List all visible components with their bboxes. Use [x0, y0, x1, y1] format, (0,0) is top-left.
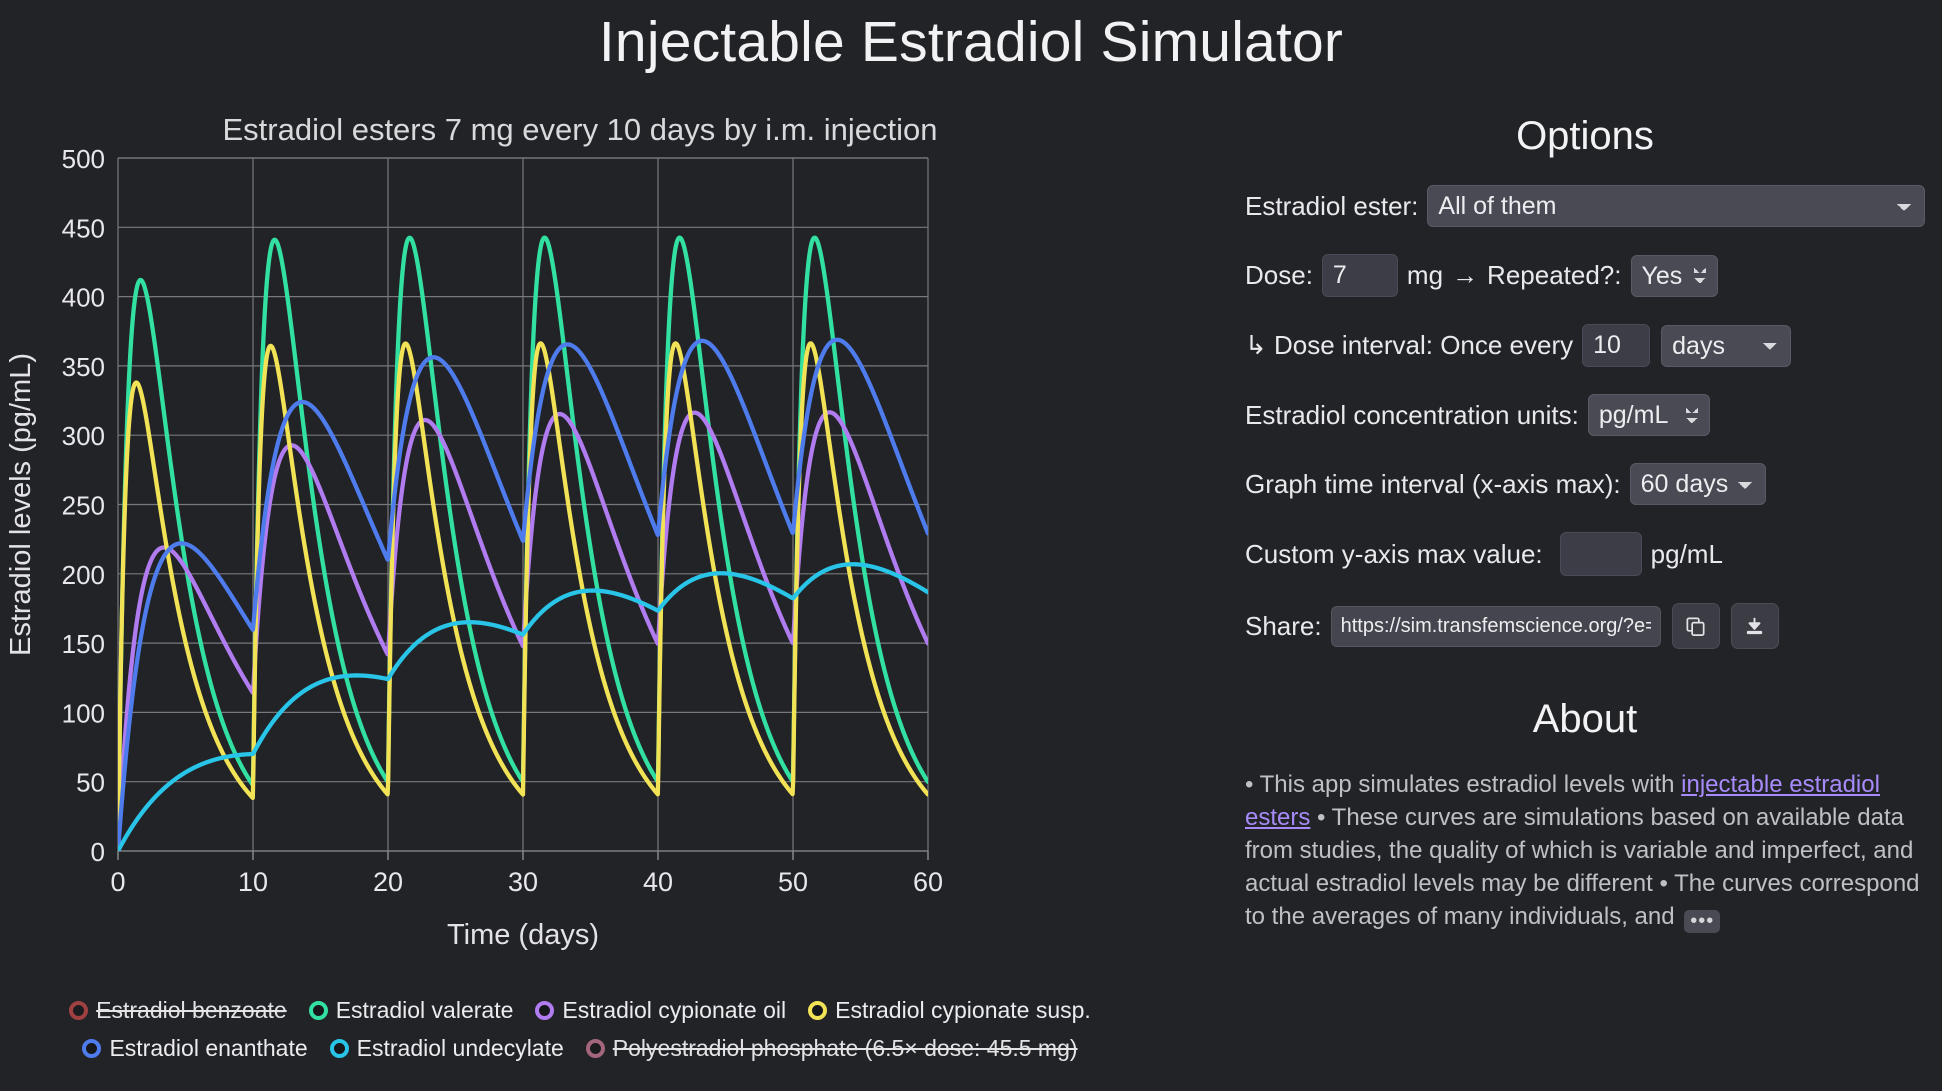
legend-item[interactable]: Estradiol cypionate susp. [808, 991, 1091, 1029]
custom-ymax-input[interactable] [1560, 532, 1642, 576]
x-axis-label: Time (days) [447, 919, 599, 951]
time-interval-row: Graph time interval (x-axis max): 60 day… [1245, 463, 1925, 505]
ymax-row: Custom y-axis max value: pg/mL [1245, 532, 1925, 576]
y-tick-label: 200 [62, 560, 105, 590]
y-tick-label: 300 [62, 421, 105, 451]
legend-color-dot [586, 1039, 605, 1058]
units-row: Estradiol concentration units: pg/mLpmol… [1245, 394, 1925, 436]
arrow-icon: → [1452, 260, 1478, 291]
show-more-button[interactable]: ••• [1684, 910, 1720, 933]
y-tick-label: 100 [62, 698, 105, 728]
legend-color-dot [309, 1001, 328, 1020]
legend-item[interactable]: Polyestradiol phosphate (6.5× dose: 45.5… [586, 1029, 1078, 1067]
about-text-part-1: • This app simulates estradiol levels wi… [1245, 771, 1681, 798]
y-axis-label: Estradiol levels (pg/mL) [5, 353, 37, 656]
dose-interval-row: ↳ Dose interval: Once every daysweeksmon… [1245, 324, 1925, 367]
estradiol-line-chart: 0501001502002503003504004505000102030405… [0, 146, 1160, 1006]
x-tick-label: 60 [913, 867, 943, 897]
dose-interval-input[interactable] [1582, 324, 1650, 367]
share-row: Share: [1245, 603, 1925, 649]
legend-item-label: Polyestradiol phosphate (6.5× dose: 45.5… [613, 1029, 1078, 1067]
dose-interval-unit-select[interactable]: daysweeksmonths [1661, 325, 1791, 367]
app-root: Injectable Estradiol Simulator Estradiol… [0, 0, 1942, 1091]
y-tick-label: 50 [76, 768, 105, 798]
y-tick-label: 250 [62, 491, 105, 521]
download-icon [1743, 615, 1766, 638]
share-url-input[interactable] [1331, 606, 1661, 647]
legend-item-label: Estradiol valerate [336, 991, 514, 1029]
estradiol-ester-select[interactable]: All of them [1427, 185, 1925, 227]
y-tick-label: 150 [62, 629, 105, 659]
x-tick-label: 50 [778, 867, 808, 897]
legend-row: Estradiol enanthateEstradiol undecylateP… [0, 1029, 1160, 1067]
chart-title: Estradiol esters 7 mg every 10 days by i… [0, 112, 1160, 148]
x-tick-label: 20 [373, 867, 403, 897]
y-tick-label: 0 [91, 837, 105, 867]
legend-color-dot [82, 1039, 101, 1058]
ester-row: Estradiol ester: All of them [1245, 185, 1925, 227]
ymax-label: Custom y-axis max value: [1245, 539, 1543, 570]
concentration-units-select[interactable]: pg/mLpmol/L [1588, 394, 1710, 436]
x-tick-label: 30 [508, 867, 538, 897]
graph-time-interval-select[interactable]: 60 days [1630, 463, 1766, 505]
x-tick-label: 0 [110, 867, 125, 897]
y-tick-label: 350 [62, 352, 105, 382]
legend-item-label: Estradiol cypionate oil [562, 991, 786, 1029]
about-heading: About [1245, 697, 1925, 742]
legend-item-label: Estradiol enanthate [109, 1029, 307, 1067]
legend-item[interactable]: Estradiol valerate [309, 991, 514, 1029]
legend-item[interactable]: Estradiol cypionate oil [535, 991, 786, 1029]
dose-label: Dose: [1245, 260, 1313, 291]
x-tick-label: 10 [238, 867, 268, 897]
x-tick-label: 40 [643, 867, 673, 897]
legend-color-dot [330, 1039, 349, 1058]
y-tick-label: 400 [62, 283, 105, 313]
legend-color-dot [69, 1001, 88, 1020]
dose-input[interactable] [1322, 254, 1398, 297]
dose-interval-label: ↳ Dose interval: Once every [1245, 330, 1573, 361]
legend-color-dot [535, 1001, 554, 1020]
chart-panel: Estradiol esters 7 mg every 10 days by i… [0, 96, 1175, 1091]
repeated-label: Repeated?: [1487, 260, 1621, 291]
legend-item-label: Estradiol cypionate susp. [835, 991, 1091, 1029]
about-text: • This app simulates estradiol levels wi… [1245, 768, 1925, 934]
legend-item[interactable]: Estradiol undecylate [330, 1029, 564, 1067]
legend-item-label: Estradiol undecylate [357, 1029, 564, 1067]
legend-item[interactable]: Estradiol enanthate [82, 1029, 307, 1067]
dose-unit: mg [1407, 260, 1443, 291]
copy-icon [1684, 615, 1707, 638]
share-label: Share: [1245, 611, 1322, 642]
download-button[interactable] [1731, 603, 1779, 649]
about-text-part-2: • These curves are simulations based on … [1245, 804, 1920, 930]
y-tick-label: 500 [62, 146, 105, 174]
repeated-select[interactable]: YesNo [1631, 255, 1718, 297]
units-label: Estradiol concentration units: [1245, 400, 1579, 431]
ymax-unit: pg/mL [1651, 539, 1723, 570]
page-title: Injectable Estradiol Simulator [0, 0, 1942, 76]
legend-item-label: Estradiol benzoate [96, 991, 287, 1029]
legend-color-dot [808, 1001, 827, 1020]
ester-label: Estradiol ester: [1245, 191, 1418, 222]
y-tick-label: 450 [62, 213, 105, 243]
legend-item[interactable]: Estradiol benzoate [69, 991, 287, 1029]
legend-row: Estradiol benzoateEstradiol valerateEstr… [0, 991, 1160, 1029]
chart-legend: Estradiol benzoateEstradiol valerateEstr… [0, 991, 1160, 1067]
time-interval-label: Graph time interval (x-axis max): [1245, 469, 1621, 500]
copy-link-button[interactable] [1672, 603, 1720, 649]
plot-area: 0501001502002503003504004505000102030405… [0, 146, 1160, 1006]
options-heading: Options [1245, 114, 1925, 159]
dose-row: Dose: mg → Repeated?: YesNo [1245, 254, 1925, 297]
options-panel: Options Estradiol ester: All of them Dos… [1245, 96, 1925, 958]
